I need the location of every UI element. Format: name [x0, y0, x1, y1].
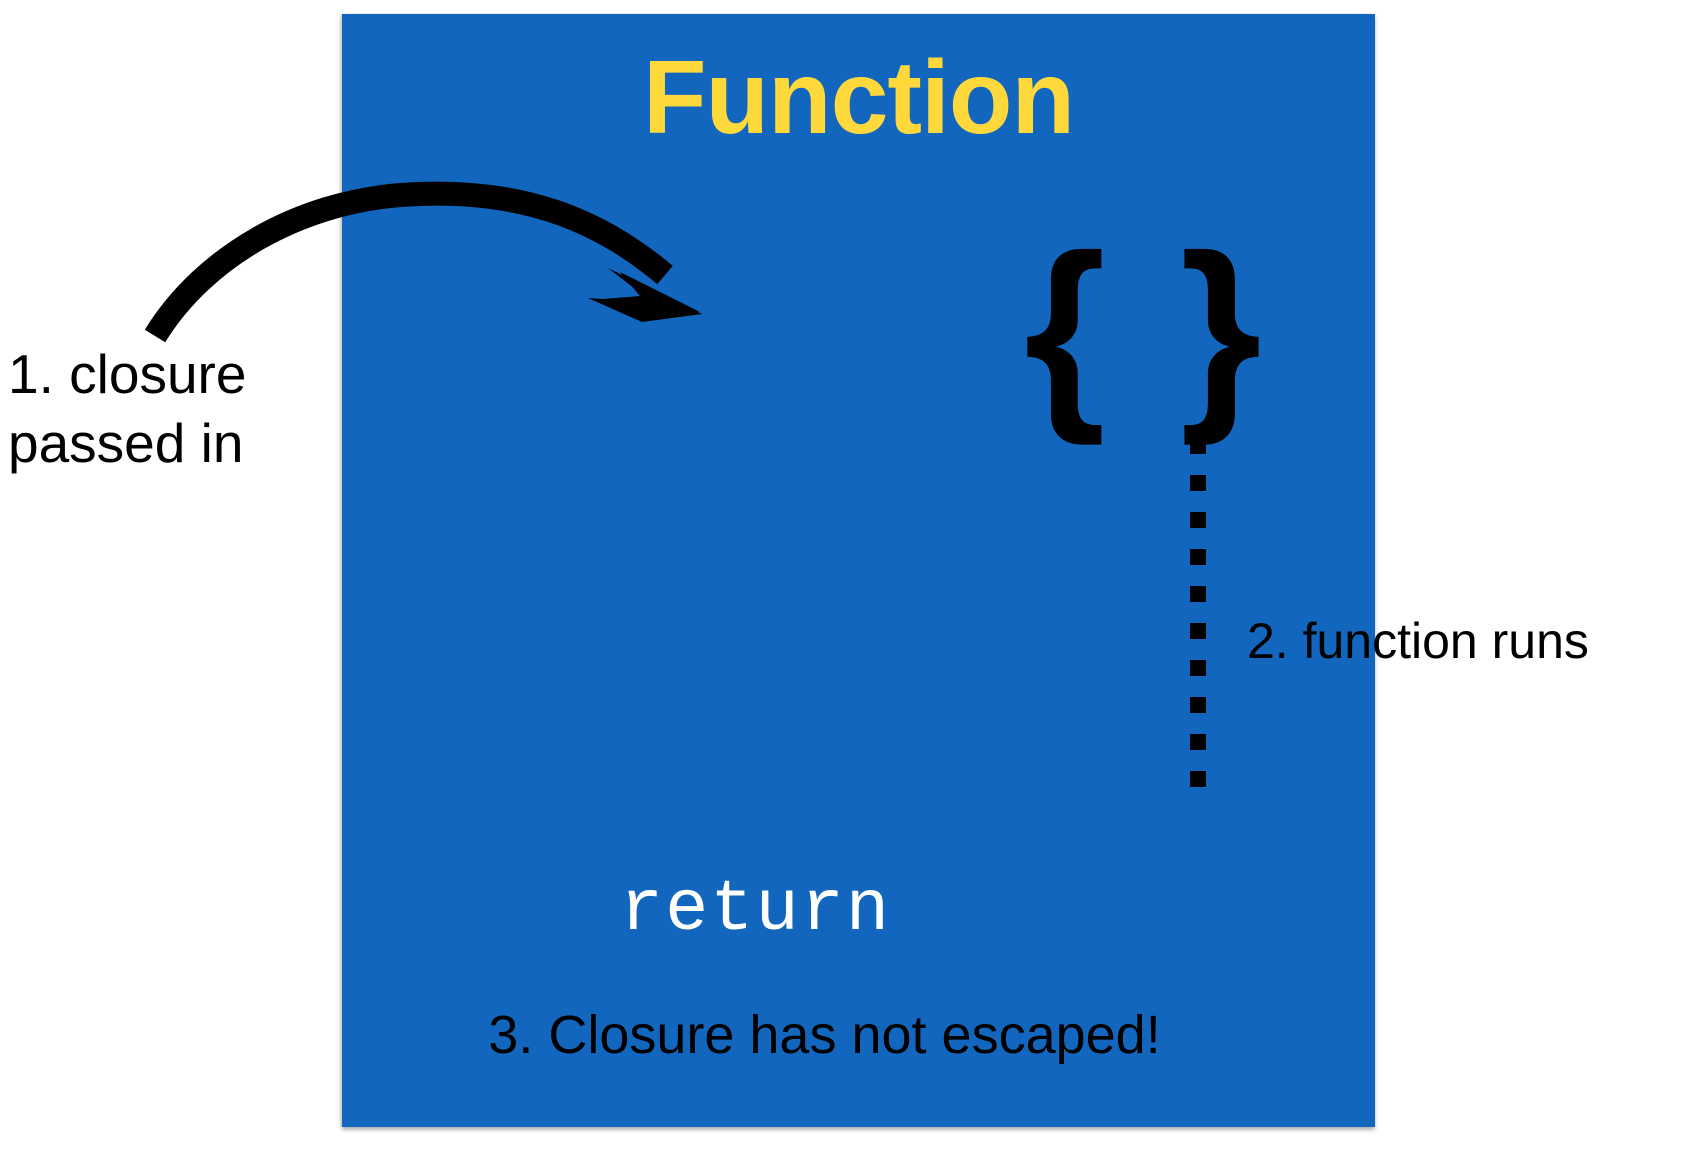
- diagram-canvas: Function { } 2. function runs return 3. …: [0, 0, 1700, 1152]
- step-1-label-line1: 1. closure: [8, 343, 246, 405]
- return-keyword: return: [239, 869, 1272, 951]
- step-2-label: 2. function runs: [1247, 612, 1589, 670]
- function-panel: Function { } 2. function runs return 3. …: [342, 14, 1375, 1127]
- step-1-label: 1. closure passed in: [8, 340, 246, 478]
- open-brace-glyph: {: [1024, 224, 1106, 434]
- step-3-label: 3. Closure has not escaped!: [308, 1004, 1341, 1066]
- page-title: Function: [342, 46, 1375, 150]
- step-1-label-line2: passed in: [8, 409, 246, 478]
- function-execution-flow-dotted-line: [1190, 438, 1206, 788]
- close-brace-glyph: }: [1180, 224, 1262, 434]
